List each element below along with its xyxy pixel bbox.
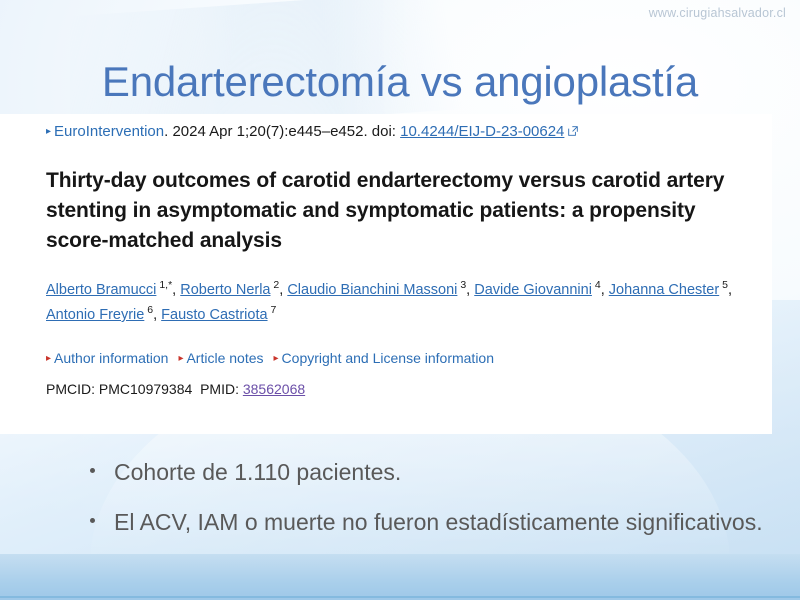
author-separator: ,: [728, 282, 732, 298]
background-bottom-rule: [0, 596, 800, 598]
author-affiliation-marker: 6: [144, 304, 153, 316]
author-link[interactable]: Antonio Freyrie: [46, 307, 144, 323]
author-link[interactable]: Johanna Chester: [609, 282, 719, 298]
external-link-icon: [568, 126, 578, 136]
site-url-watermark: www.cirugiahsalvador.cl: [649, 6, 786, 20]
slide-canvas: www.cirugiahsalvador.cl Endarterectomía …: [0, 0, 800, 600]
article-title: Thirty-day outcomes of carotid endartere…: [46, 166, 746, 256]
author-link[interactable]: Fausto Castriota: [161, 307, 267, 323]
author-affiliation-marker: 5: [719, 279, 728, 291]
journal-name: EuroIntervention: [54, 123, 164, 140]
author-affiliation-marker: 1,*: [156, 279, 172, 291]
triangle-right-icon: ▸: [46, 122, 51, 142]
author-link[interactable]: Alberto Bramucci: [46, 282, 156, 298]
author-list: Alberto Bramucci 1,*, Roberto Nerla 2, C…: [46, 278, 764, 328]
pubmed-article-panel: ▸EuroIntervention. 2024 Apr 1;20(7):e445…: [0, 114, 772, 434]
author-affiliation-marker: 4: [592, 279, 601, 291]
journal-citation-line: ▸EuroIntervention. 2024 Apr 1;20(7):e445…: [46, 122, 764, 142]
bullet-text: Cohorte de 1.110 pacientes.: [114, 459, 401, 485]
author-separator: ,: [601, 282, 609, 298]
pmid-link[interactable]: 38562068: [243, 381, 305, 397]
bullet-item: El ACV, IAM o muerte no fueron estadísti…: [86, 505, 776, 539]
background-bottom-band: [0, 554, 800, 600]
author-separator: ,: [153, 307, 161, 323]
author-affiliation-marker: 3: [457, 279, 466, 291]
meta-link-label: Copyright and License information: [282, 350, 494, 366]
meta-link-label: Article notes: [186, 350, 263, 366]
triangle-right-icon: ▸: [46, 349, 51, 369]
author-affiliation-marker: 7: [268, 304, 277, 316]
bullet-item: Cohorte de 1.110 pacientes.: [86, 455, 776, 489]
author-link[interactable]: Davide Giovannini: [474, 282, 592, 298]
author-link[interactable]: Roberto Nerla: [180, 282, 270, 298]
slide-title: Endarterectomía vs angioplastía: [0, 55, 800, 109]
pmcid-label: PMCID: PMC10979384: [46, 381, 192, 397]
triangle-right-icon: ▸: [274, 349, 279, 369]
article-identifiers: PMCID: PMC10979384 PMID: 38562068: [46, 379, 764, 399]
article-meta-links: ▸Author information▸Article notes▸Copyri…: [46, 348, 764, 369]
citation-details: . 2024 Apr 1;20(7):e445–e452. doi:: [164, 123, 400, 140]
author-link[interactable]: Claudio Bianchini Massoni: [287, 282, 457, 298]
meta-link[interactable]: ▸Copyright and License information: [274, 350, 495, 366]
meta-link[interactable]: ▸Author information: [46, 350, 168, 366]
bullet-list: Cohorte de 1.110 pacientes.El ACV, IAM o…: [86, 455, 776, 539]
meta-link-label: Author information: [54, 350, 168, 366]
author-affiliation-marker: 2: [271, 279, 280, 291]
bullet-dot-icon: [90, 468, 95, 473]
triangle-right-icon: ▸: [178, 349, 183, 369]
pmid-label: PMID:: [200, 381, 243, 397]
bullet-dot-icon: [90, 518, 95, 523]
doi-link[interactable]: 10.4244/EIJ-D-23-00624: [400, 123, 564, 140]
bullet-text: El ACV, IAM o muerte no fueron estadísti…: [114, 505, 776, 539]
meta-link[interactable]: ▸Article notes: [178, 350, 263, 366]
